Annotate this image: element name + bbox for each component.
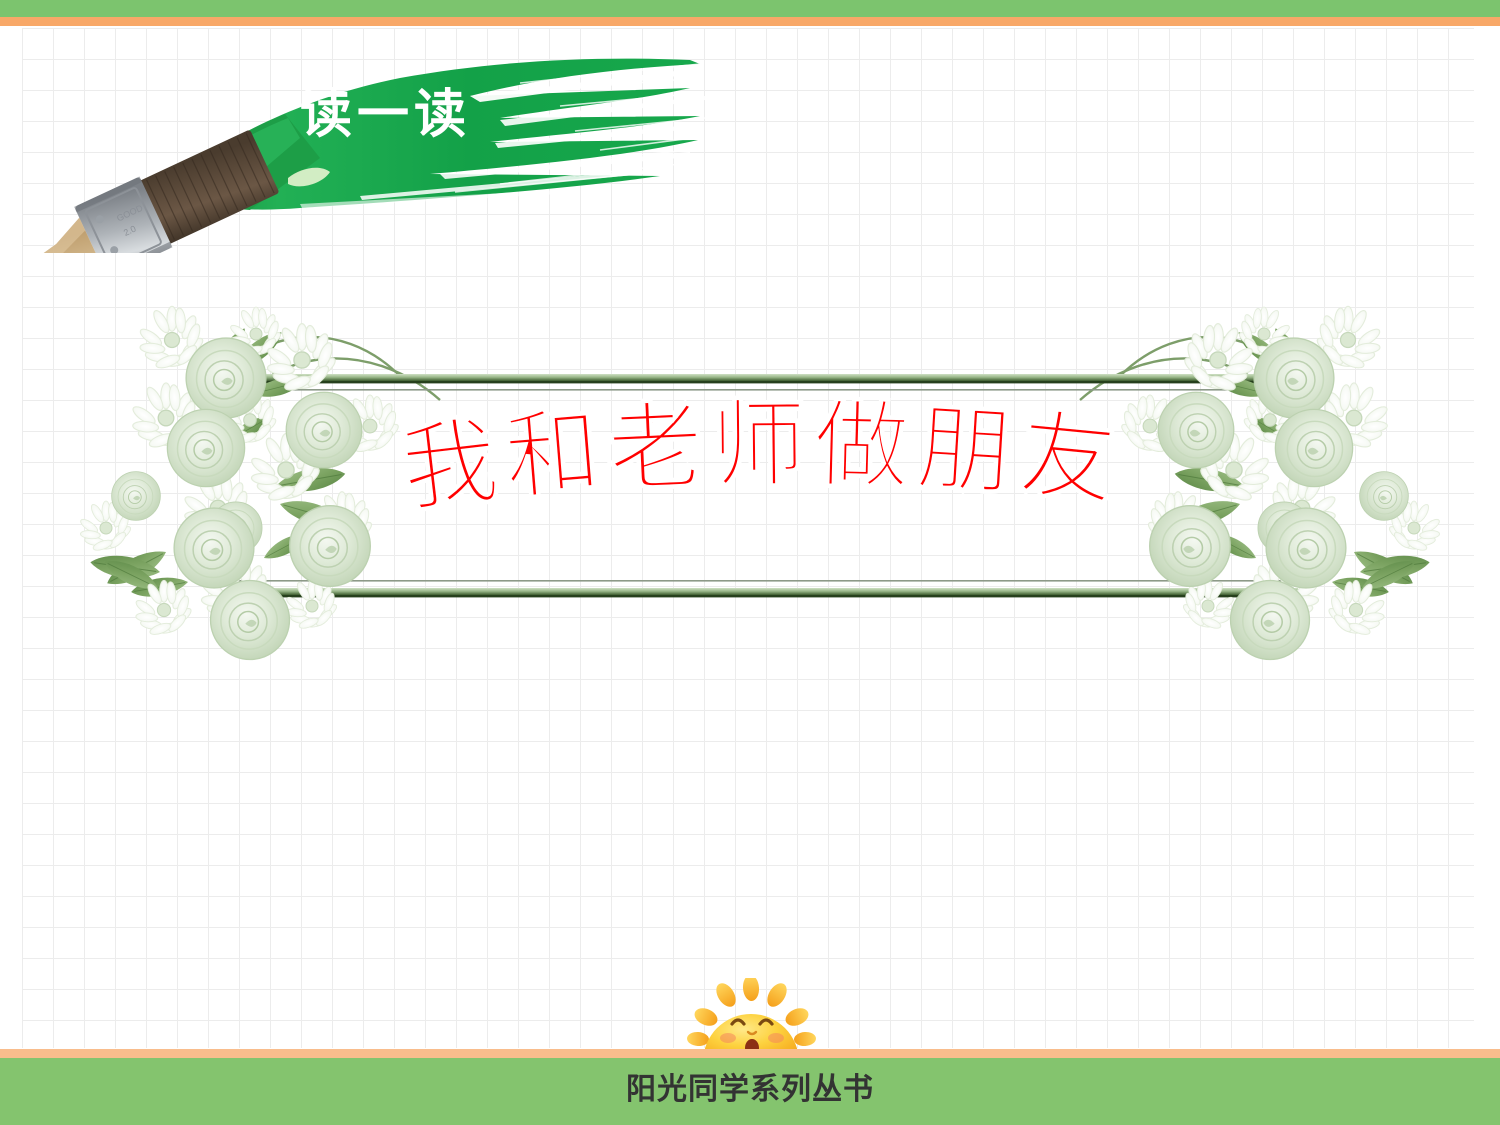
bottom-orange-bar [0,1049,1500,1058]
slide-canvas: GOOD 2.0 读一读 [0,0,1500,1125]
floral-title-frame [40,290,1480,670]
top-orange-bar [0,17,1500,26]
footer-series-title: 阳光同学系列丛书 [0,1062,1500,1118]
read-aloud-label: 读一读 [300,72,471,147]
frame-top-rules [226,374,1298,391]
top-green-bar [0,0,1500,17]
frame-bottom-rules [226,580,1298,597]
